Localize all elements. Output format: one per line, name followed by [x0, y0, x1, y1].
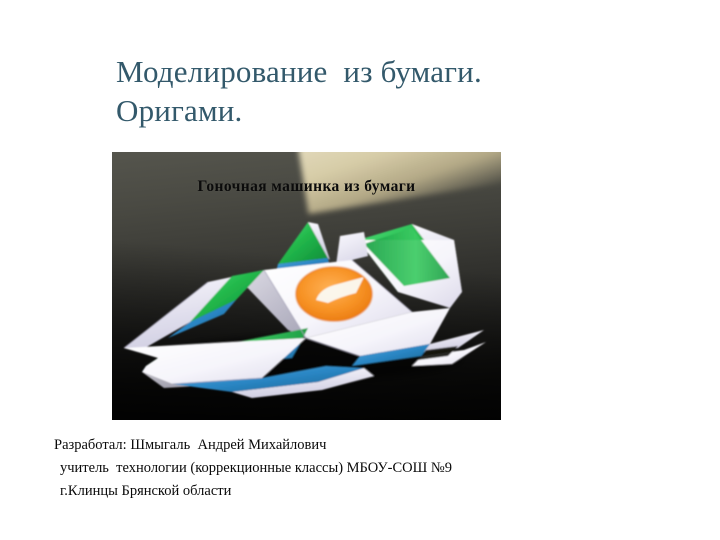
title-line-2: Оригами. [116, 91, 676, 130]
credit-line-1: Разработал: Шмыгаль Андрей Михайлович [54, 434, 674, 457]
photo-caption: Гоночная машинка из бумаги [112, 178, 501, 196]
title-line-1: Моделирование из бумаги. [116, 52, 676, 91]
credit-line-2: учитель технологии (коррекционные классы… [54, 457, 674, 480]
origami-photo: Гоночная машинка из бумаги [112, 152, 501, 420]
emblem-orange-circle [296, 267, 372, 321]
slide-title: Моделирование из бумаги. Оригами. [116, 52, 676, 130]
author-credit: Разработал: Шмыгаль Андрей Михайлович уч… [54, 434, 674, 503]
presentation-slide: Моделирование из бумаги. Оригами. [0, 0, 720, 540]
credit-line-3: г.Клинцы Брянской области [54, 480, 674, 503]
